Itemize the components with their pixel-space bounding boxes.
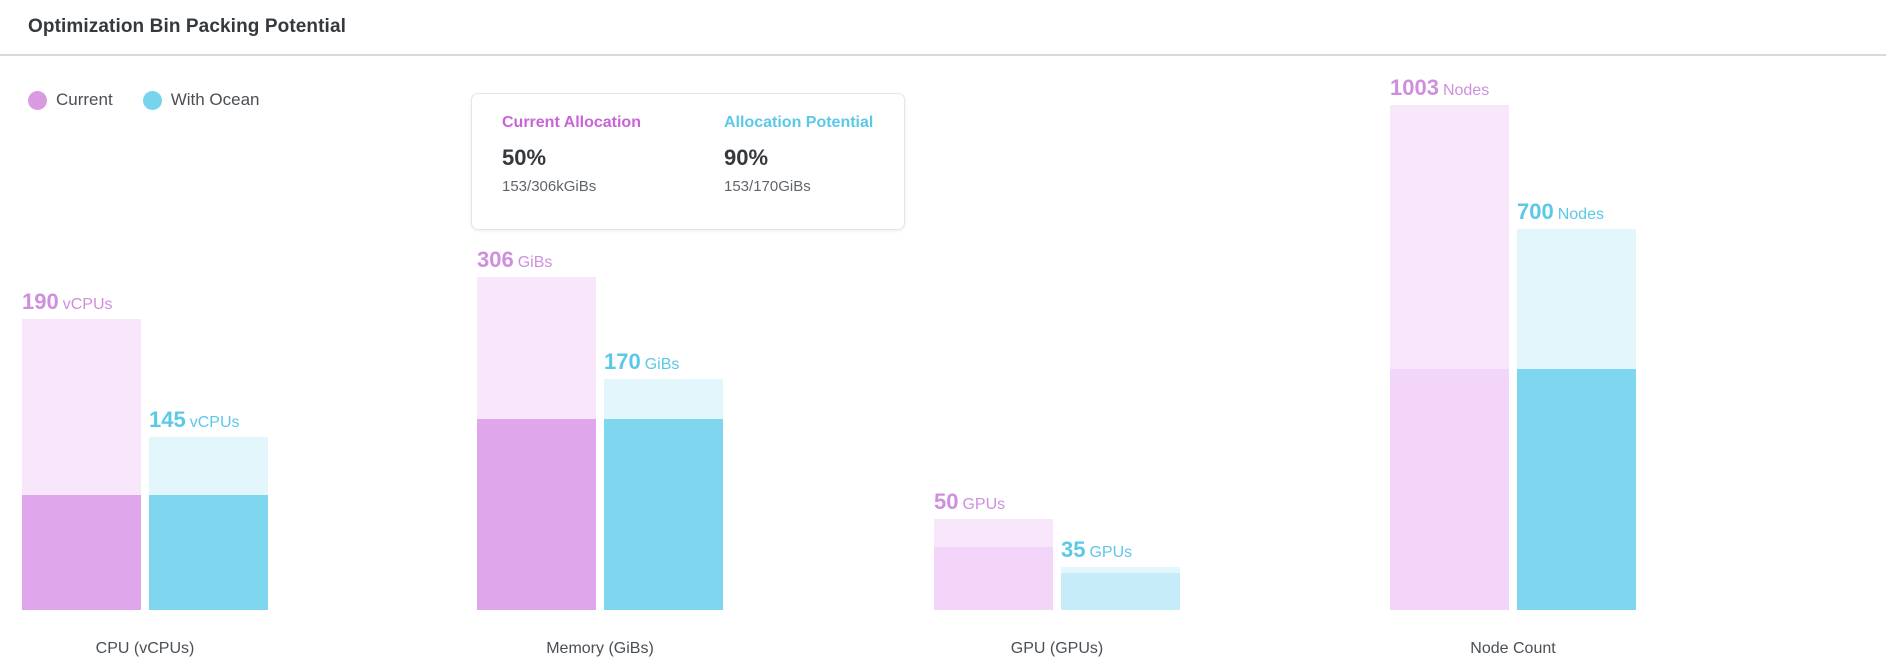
bar-value-number: 700 bbox=[1517, 199, 1554, 224]
bar-value-label: 190vCPUs bbox=[22, 291, 113, 319]
bar-segment-used bbox=[1390, 369, 1509, 610]
bar-value-unit: GiBs bbox=[518, 254, 553, 271]
bar-value-label: 35GPUs bbox=[1061, 539, 1132, 567]
bar-value-number: 190 bbox=[22, 289, 59, 314]
bar-segment-unused bbox=[1517, 229, 1636, 369]
bar-segment-used bbox=[1517, 369, 1636, 610]
panel-header: Optimization Bin Packing Potential bbox=[0, 0, 1886, 56]
bar-value-number: 35 bbox=[1061, 537, 1085, 562]
bar-segment-used bbox=[1061, 573, 1180, 610]
bar-gpu-ocean[interactable]: 35GPUs bbox=[1061, 567, 1180, 610]
bar-value-number: 1003 bbox=[1390, 75, 1439, 100]
bar-value-label: 50GPUs bbox=[934, 491, 1005, 519]
bar-value-number: 170 bbox=[604, 349, 641, 374]
bar-group-3: 1003Nodes700NodesNode Count bbox=[1368, 56, 1658, 666]
bar-group-bars: 306GiBs170GiBs bbox=[455, 56, 745, 610]
bar-segment-used bbox=[477, 419, 596, 610]
bar-group-0: 190vCPUs145vCPUsCPU (vCPUs) bbox=[0, 56, 290, 666]
bar-chart-plot: 190vCPUs145vCPUsCPU (vCPUs)306GiBs170GiB… bbox=[0, 56, 1886, 666]
bar-value-unit: Nodes bbox=[1558, 206, 1604, 223]
x-axis-label-3: Node Count bbox=[1368, 640, 1658, 658]
bar-value-unit: vCPUs bbox=[63, 296, 113, 313]
page-title: Optimization Bin Packing Potential bbox=[28, 16, 346, 38]
bar-memory-ocean[interactable]: 170GiBs bbox=[604, 379, 723, 610]
bar-group-bars: 50GPUs35GPUs bbox=[912, 56, 1202, 610]
bar-value-unit: Nodes bbox=[1443, 82, 1489, 99]
bar-cpu-ocean[interactable]: 145vCPUs bbox=[149, 437, 268, 610]
bar-value-label: 1003Nodes bbox=[1390, 77, 1489, 105]
bar-group-bars: 1003Nodes700Nodes bbox=[1368, 56, 1658, 610]
bar-segment-used bbox=[934, 547, 1053, 610]
bar-value-unit: vCPUs bbox=[190, 414, 240, 431]
bar-segment-unused bbox=[1390, 105, 1509, 369]
bar-node-current[interactable]: 1003Nodes bbox=[1390, 105, 1509, 610]
x-axis-label-0: CPU (vCPUs) bbox=[0, 640, 290, 658]
bar-segment-used bbox=[22, 495, 141, 610]
bar-value-number: 50 bbox=[934, 489, 958, 514]
bar-segment-unused bbox=[604, 379, 723, 419]
bar-value-unit: GPUs bbox=[962, 496, 1005, 513]
bar-node-ocean[interactable]: 700Nodes bbox=[1517, 229, 1636, 610]
bar-segment-unused bbox=[149, 437, 268, 495]
x-axis-label-2: GPU (GPUs) bbox=[912, 640, 1202, 658]
bar-value-unit: GPUs bbox=[1089, 544, 1132, 561]
bar-segment-unused bbox=[934, 519, 1053, 547]
bar-gpu-current[interactable]: 50GPUs bbox=[934, 519, 1053, 610]
bar-group-1: 306GiBs170GiBsMemory (GiBs) bbox=[455, 56, 745, 666]
bar-cpu-current[interactable]: 190vCPUs bbox=[22, 319, 141, 610]
x-axis-label-1: Memory (GiBs) bbox=[455, 640, 745, 658]
bar-value-number: 306 bbox=[477, 247, 514, 272]
bar-memory-current[interactable]: 306GiBs bbox=[477, 277, 596, 610]
bar-value-label: 145vCPUs bbox=[149, 409, 240, 437]
bar-value-number: 145 bbox=[149, 407, 186, 432]
bar-segment-used bbox=[604, 419, 723, 610]
bar-segment-used bbox=[149, 495, 268, 610]
bar-value-label: 700Nodes bbox=[1517, 201, 1604, 229]
bar-value-label: 306GiBs bbox=[477, 249, 552, 277]
bar-group-bars: 190vCPUs145vCPUs bbox=[0, 56, 290, 610]
bar-group-2: 50GPUs35GPUsGPU (GPUs) bbox=[912, 56, 1202, 666]
bar-segment-unused bbox=[477, 277, 596, 419]
bar-value-unit: GiBs bbox=[645, 356, 680, 373]
bar-value-label: 170GiBs bbox=[604, 351, 679, 379]
bar-segment-unused bbox=[22, 319, 141, 495]
